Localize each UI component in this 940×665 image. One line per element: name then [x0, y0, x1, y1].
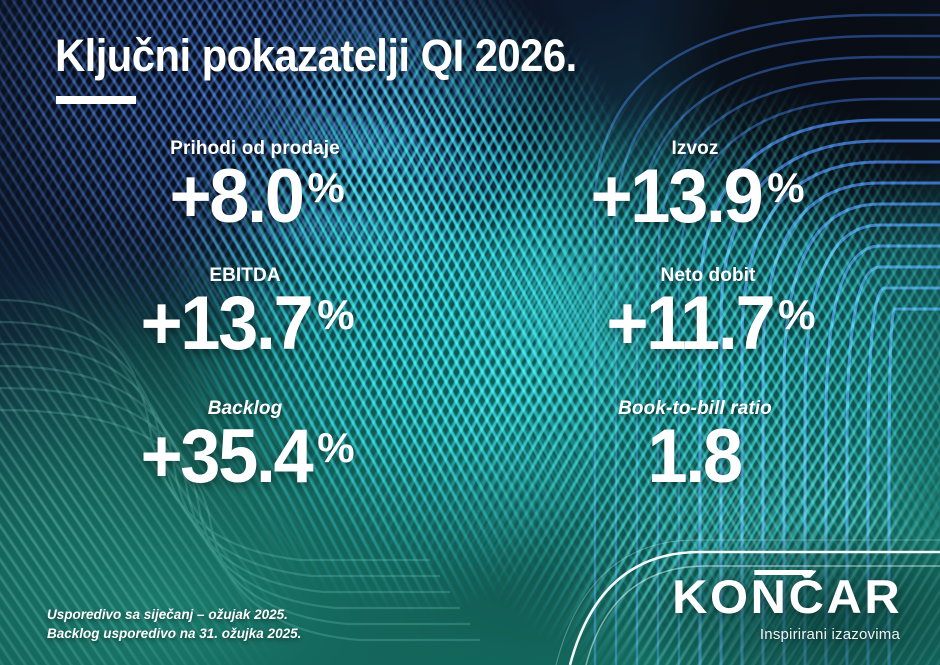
- poster-content: Ključni pokazatelji QI 2026. Prihodi od …: [0, 0, 940, 665]
- logo-tagline: Inspirirani izazovima: [681, 626, 900, 643]
- kpi-ebitda: EBITDA +13.7 %: [95, 265, 395, 359]
- footnote: Usporedivo sa siječanj – ožujak 2025. Ba…: [47, 605, 301, 643]
- page-title: Ključni pokazatelji QI 2026.: [55, 30, 577, 82]
- title-underline-rule: [56, 96, 136, 104]
- footnote-line-2: Backlog usporedivo na 31. ožujka 2025.: [47, 624, 301, 643]
- kpi-izvoz: Izvoz +13.9 %: [545, 138, 845, 232]
- kpi-infographic-poster: Ključni pokazatelji QI 2026. Prihodi od …: [0, 0, 940, 665]
- kpi-value: +13.7 %: [95, 289, 395, 359]
- logo-wordmark: KONČAR: [672, 573, 902, 620]
- kpi-percent-sign: %: [307, 167, 343, 209]
- kpi-value: 1.8: [545, 422, 845, 492]
- kpi-value: +11.7 %: [558, 289, 858, 359]
- logo-macron-bar: [754, 570, 812, 575]
- kpi-number: +35.4: [141, 422, 312, 492]
- logo-wordmark-text: KONČAR: [672, 570, 902, 623]
- kpi-number: +13.9: [591, 162, 762, 232]
- kpi-neto-dobit: Neto dobit +11.7 %: [558, 265, 858, 359]
- kpi-value: +35.4 %: [95, 422, 395, 492]
- kpi-number: +11.7: [606, 289, 773, 359]
- kpi-backlog: Backlog +35.4 %: [95, 398, 395, 492]
- kpi-value: +8.0 %: [105, 162, 405, 232]
- footnote-line-1: Usporedivo sa siječanj – ožujak 2025.: [47, 605, 301, 624]
- kpi-book-to-bill-ratio: Book-to-bill ratio 1.8: [545, 398, 845, 492]
- brand-logo: KONČAR Inspirirani izazovima: [681, 573, 902, 643]
- kpi-percent-sign: %: [317, 427, 353, 469]
- kpi-number: +13.7: [141, 289, 312, 359]
- kpi-percent-sign: %: [317, 294, 353, 336]
- kpi-number: 1.8: [648, 422, 741, 492]
- kpi-number: +8.0: [170, 162, 303, 232]
- kpi-prihodi-od-prodaje: Prihodi od prodaje +8.0 %: [105, 138, 405, 232]
- kpi-value: +13.9 %: [545, 162, 845, 232]
- kpi-percent-sign: %: [778, 294, 814, 336]
- kpi-percent-sign: %: [767, 167, 803, 209]
